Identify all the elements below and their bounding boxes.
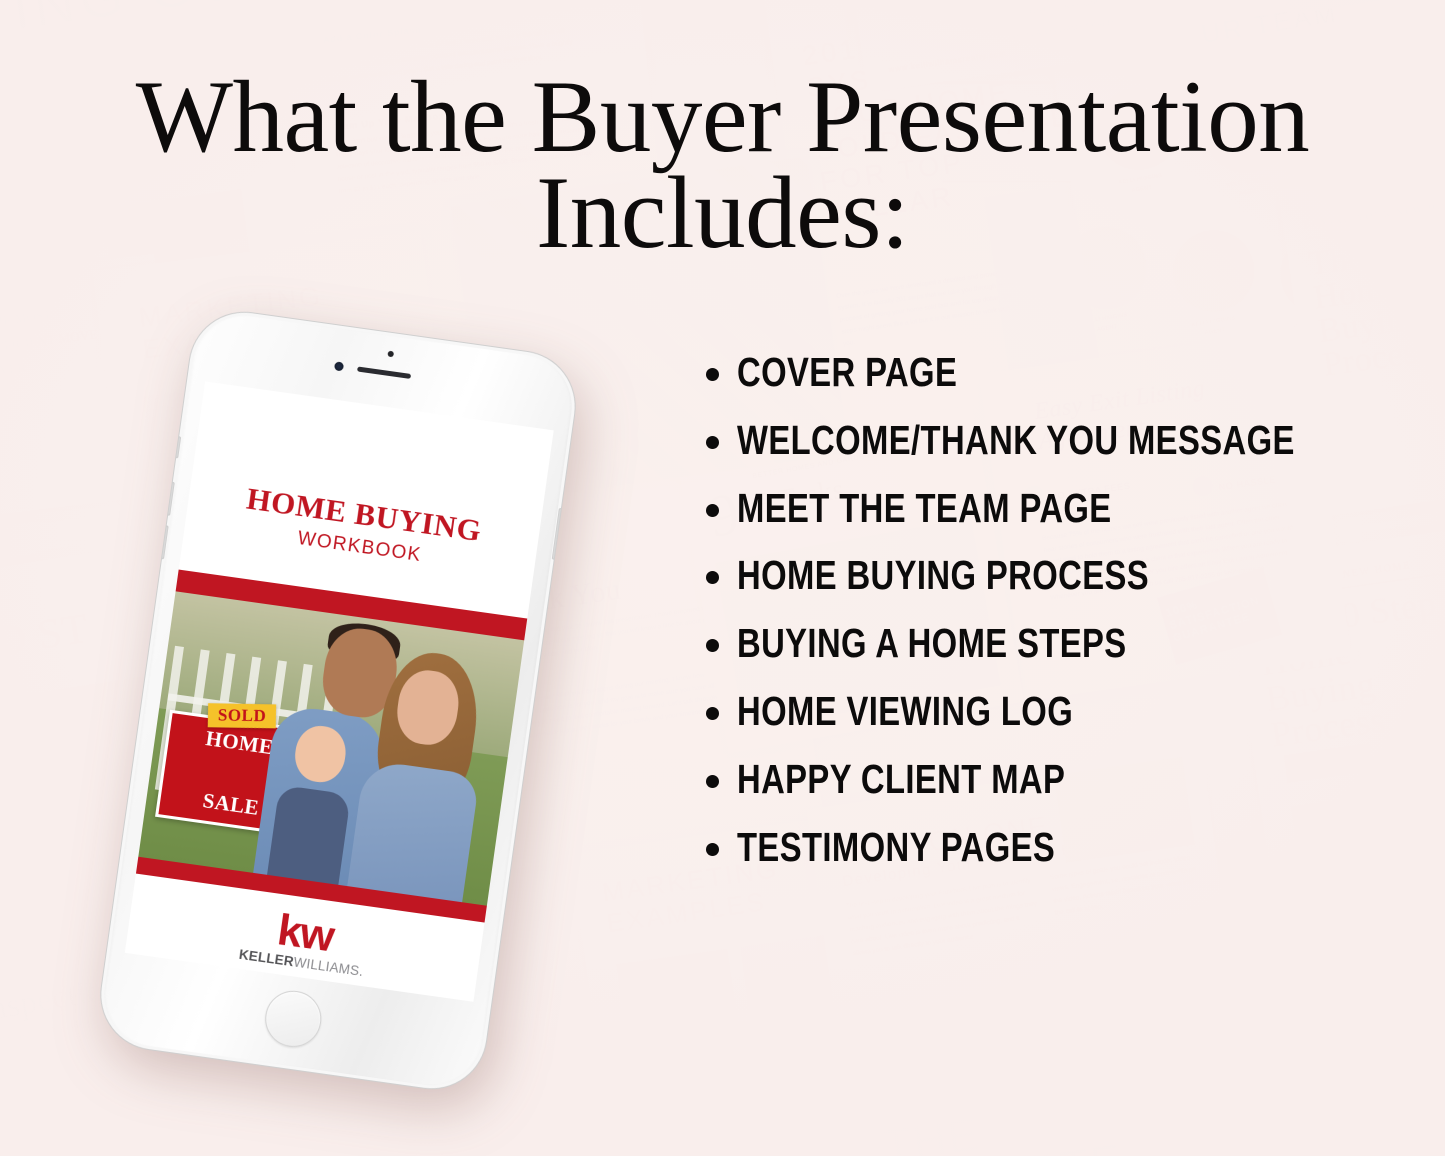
page-title: What the Buyer Presentation Includes: (0, 70, 1445, 262)
proximity-sensor-icon (387, 351, 394, 358)
list-item: BUYING A HOME STEPS (706, 623, 1366, 665)
sold-badge: SOLD (208, 703, 277, 728)
list-item-label: BUYING A HOME STEPS (737, 623, 1127, 665)
workbook-cover: HOME BUYING WORKBOOK HOME SALE SOL (125, 381, 554, 1001)
list-item: HOME VIEWING LOG (706, 691, 1366, 733)
bullet-dot-icon (706, 368, 719, 381)
front-camera-icon (334, 361, 344, 371)
list-item: COVER PAGE (706, 352, 1366, 394)
list-item-label: HOME VIEWING LOG (737, 691, 1073, 733)
list-item-label: COVER PAGE (737, 352, 957, 394)
home-button[interactable] (262, 987, 325, 1050)
bullet-dot-icon (706, 775, 719, 788)
cover-photo-baby-body (267, 785, 351, 885)
list-item-label: HOME BUYING PROCESS (737, 555, 1149, 597)
bullet-dot-icon (706, 504, 719, 517)
includes-list: COVER PAGE WELCOME/THANK YOU MESSAGE MEE… (706, 352, 1366, 895)
cover-photo: HOME SALE SOLD (138, 592, 524, 906)
bullet-dot-icon (706, 639, 719, 652)
list-item: WELCOME/THANK YOU MESSAGE (706, 420, 1366, 462)
bullet-dot-icon (706, 436, 719, 449)
list-item-label: WELCOME/THANK YOU MESSAGE (737, 420, 1295, 462)
phone-screen[interactable]: HOME BUYING WORKBOOK HOME SALE SOL (125, 381, 554, 1001)
page-title-line-2: Includes: (0, 166, 1445, 262)
list-item: MEET THE TEAM PAGE (706, 488, 1366, 530)
list-item-label: HAPPY CLIENT MAP (737, 759, 1065, 801)
list-item-label: TESTIMONY PAGES (737, 827, 1055, 869)
cover-photo-woman-body (347, 759, 480, 903)
list-item: HAPPY CLIENT MAP (706, 759, 1366, 801)
product-graphic-canvas: THE ULTIMATE BUYING GUIDE THE MOST EFFIC… (0, 0, 1445, 1156)
list-item-label: MEET THE TEAM PAGE (737, 488, 1112, 530)
bullet-dot-icon (706, 707, 719, 720)
list-item: HOME BUYING PROCESS (706, 555, 1366, 597)
earpiece-speaker-icon (357, 366, 411, 378)
list-item: TESTIMONY PAGES (706, 827, 1366, 869)
bullet-dot-icon (706, 571, 719, 584)
bullet-dot-icon (706, 843, 719, 856)
